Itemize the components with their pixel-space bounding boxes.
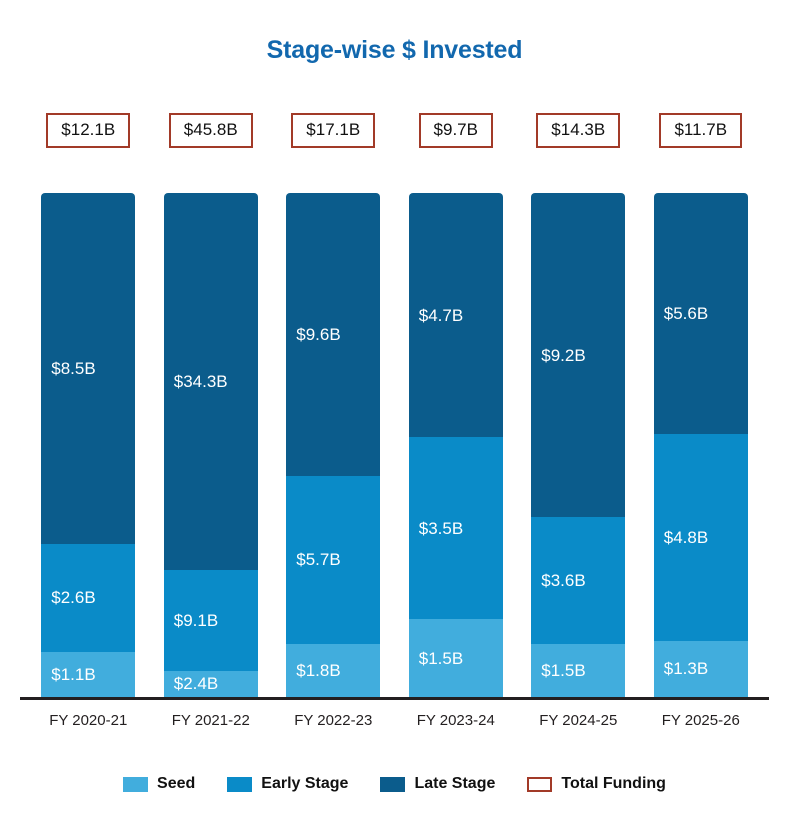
bar-segment-late-stage[interactable]: $9.2B bbox=[531, 193, 625, 517]
x-axis-tick-label: FY 2023-24 bbox=[395, 712, 518, 729]
stacked-bar[interactable]: $34.3B$9.1B$2.4B bbox=[164, 193, 258, 697]
total-funding-badge: $12.1B bbox=[46, 113, 130, 148]
bar-segment-value-label: $34.3B bbox=[174, 373, 228, 390]
bar-segment-value-label: $5.7B bbox=[296, 551, 340, 568]
legend-item-late-stage[interactable]: Late Stage bbox=[380, 775, 495, 793]
x-axis-category-labels: FY 2020-21FY 2021-22FY 2022-23FY 2023-24… bbox=[27, 705, 762, 735]
bar-segment-value-label: $4.7B bbox=[419, 307, 463, 324]
stacked-bar[interactable]: $4.7B$3.5B$1.5B bbox=[409, 193, 503, 697]
bar-slot: $34.3B$9.1B$2.4B bbox=[150, 193, 273, 697]
bar-segment-seed[interactable]: $1.1B bbox=[41, 652, 135, 697]
bar-slot: $4.7B$3.5B$1.5B bbox=[395, 193, 518, 697]
bar-segment-late-stage[interactable]: $5.6B bbox=[654, 193, 748, 434]
bar-segment-value-label: $1.8B bbox=[296, 662, 340, 679]
bar-segment-value-label: $9.6B bbox=[296, 326, 340, 343]
bar-segment-late-stage[interactable]: $9.6B bbox=[286, 193, 380, 476]
bar-segment-value-label: $1.1B bbox=[51, 666, 95, 683]
bar-segment-seed[interactable]: $2.4B bbox=[164, 671, 258, 697]
legend-label: Total Funding bbox=[561, 775, 666, 793]
chart-title: Stage-wise $ Invested bbox=[0, 36, 789, 65]
bar-segment-value-label: $2.4B bbox=[174, 675, 218, 692]
bar-segment-late-stage[interactable]: $4.7B bbox=[409, 193, 503, 437]
bar-segment-early-stage[interactable]: $5.7B bbox=[286, 476, 380, 644]
chart-legend: SeedEarly StageLate StageTotal Funding bbox=[0, 775, 789, 793]
bar-segment-seed[interactable]: $1.5B bbox=[531, 644, 625, 697]
bar-segment-seed[interactable]: $1.3B bbox=[654, 641, 748, 697]
bar-segment-value-label: $8.5B bbox=[51, 360, 95, 377]
total-funding-badge: $14.3B bbox=[536, 113, 620, 148]
legend-item-early-stage[interactable]: Early Stage bbox=[227, 775, 348, 793]
stacked-bar[interactable]: $9.6B$5.7B$1.8B bbox=[286, 193, 380, 697]
legend-item-total-funding[interactable]: Total Funding bbox=[527, 775, 666, 793]
bar-segment-value-label: $3.6B bbox=[541, 572, 585, 589]
total-funding-cell: $45.8B bbox=[150, 113, 273, 148]
legend-label: Seed bbox=[157, 775, 195, 793]
x-axis-tick-label: FY 2021-22 bbox=[150, 712, 273, 729]
bar-slot: $9.6B$5.7B$1.8B bbox=[272, 193, 395, 697]
bar-segment-value-label: $4.8B bbox=[664, 529, 708, 546]
bar-segment-late-stage[interactable]: $34.3B bbox=[164, 193, 258, 570]
stacked-bar[interactable]: $9.2B$3.6B$1.5B bbox=[531, 193, 625, 697]
total-funding-badge: $9.7B bbox=[419, 113, 493, 148]
x-axis-line bbox=[20, 697, 769, 700]
plot-area: $8.5B$2.6B$1.1B$34.3B$9.1B$2.4B$9.6B$5.7… bbox=[27, 193, 762, 697]
legend-swatch-icon bbox=[527, 777, 552, 792]
bar-segment-early-stage[interactable]: $2.6B bbox=[41, 544, 135, 651]
total-funding-cell: $11.7B bbox=[640, 113, 763, 148]
bar-segment-value-label: $2.6B bbox=[51, 589, 95, 606]
x-axis-tick-label: FY 2022-23 bbox=[272, 712, 395, 729]
bar-slot: $8.5B$2.6B$1.1B bbox=[27, 193, 150, 697]
bar-segment-seed[interactable]: $1.5B bbox=[409, 619, 503, 697]
bar-segment-late-stage[interactable]: $8.5B bbox=[41, 193, 135, 544]
legend-swatch-icon bbox=[380, 777, 405, 792]
bar-segment-early-stage[interactable]: $9.1B bbox=[164, 570, 258, 670]
bar-segment-value-label: $9.1B bbox=[174, 612, 218, 629]
total-funding-badge: $17.1B bbox=[291, 113, 375, 148]
legend-label: Early Stage bbox=[261, 775, 348, 793]
total-funding-cell: $14.3B bbox=[517, 113, 640, 148]
total-funding-callout-row: $12.1B$45.8B$17.1B$9.7B$14.3B$11.7B bbox=[27, 113, 762, 157]
legend-item-seed[interactable]: Seed bbox=[123, 775, 195, 793]
bar-slot: $5.6B$4.8B$1.3B bbox=[640, 193, 763, 697]
bar-segment-early-stage[interactable]: $4.8B bbox=[654, 434, 748, 641]
bar-segment-seed[interactable]: $1.8B bbox=[286, 644, 380, 697]
chart-container: Stage-wise $ Invested $12.1B$45.8B$17.1B… bbox=[0, 0, 789, 816]
bar-segment-value-label: $1.5B bbox=[541, 662, 585, 679]
bar-segment-early-stage[interactable]: $3.5B bbox=[409, 437, 503, 619]
bar-segment-value-label: $1.5B bbox=[419, 650, 463, 667]
stacked-bar[interactable]: $5.6B$4.8B$1.3B bbox=[654, 193, 748, 697]
total-funding-cell: $17.1B bbox=[272, 113, 395, 148]
bar-segment-value-label: $9.2B bbox=[541, 347, 585, 364]
legend-swatch-icon bbox=[227, 777, 252, 792]
total-funding-cell: $9.7B bbox=[395, 113, 518, 148]
total-funding-badge: $45.8B bbox=[169, 113, 253, 148]
legend-label: Late Stage bbox=[414, 775, 495, 793]
stacked-bar[interactable]: $8.5B$2.6B$1.1B bbox=[41, 193, 135, 697]
bar-slot: $9.2B$3.6B$1.5B bbox=[517, 193, 640, 697]
bar-segment-early-stage[interactable]: $3.6B bbox=[531, 517, 625, 644]
total-funding-cell: $12.1B bbox=[27, 113, 150, 148]
x-axis-tick-label: FY 2024-25 bbox=[517, 712, 640, 729]
x-axis-tick-label: FY 2020-21 bbox=[27, 712, 150, 729]
bar-segment-value-label: $5.6B bbox=[664, 305, 708, 322]
legend-swatch-icon bbox=[123, 777, 148, 792]
bar-segment-value-label: $3.5B bbox=[419, 520, 463, 537]
x-axis-tick-label: FY 2025-26 bbox=[640, 712, 763, 729]
bar-segment-value-label: $1.3B bbox=[664, 660, 708, 677]
total-funding-badge: $11.7B bbox=[659, 113, 742, 148]
